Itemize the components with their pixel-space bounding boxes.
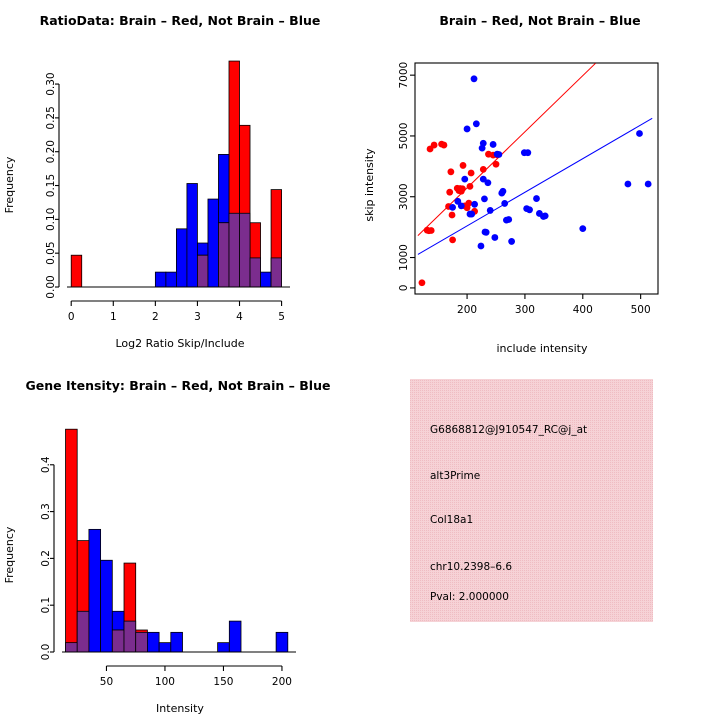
- scatter-title: Brain – Red, Not Brain – Blue: [439, 13, 640, 28]
- y-axis-tick-label: 0.05: [45, 241, 57, 264]
- plot-frame: [415, 63, 658, 294]
- gene-info-pval: Pval: 2.000000: [430, 591, 509, 603]
- scatter-point-not-brain: [471, 75, 478, 82]
- scatter-point-not-brain: [490, 141, 497, 148]
- panel-intensity-scatter: Brain – Red, Not Brain – Blue include in…: [360, 0, 720, 360]
- ratio-histogram-svg: RatioData: Brain – Red, Not Brain – Blue…: [0, 0, 360, 360]
- scatter-point-brain: [441, 142, 448, 149]
- scatter-ylabel: skip intensity: [363, 148, 376, 222]
- histogram-bar-brain: [71, 255, 82, 287]
- scatter-point-brain: [431, 142, 438, 149]
- scatter-point-not-brain: [526, 206, 533, 213]
- gene-info-event-type: alt3Prime: [430, 470, 480, 482]
- scatter-point-not-brain: [461, 176, 468, 183]
- histogram-bar-not-brain: [276, 632, 288, 652]
- histogram-bar-not-brain: [89, 529, 101, 652]
- histogram-bar-not-brain: [187, 184, 198, 288]
- x-axis-tick-label: 4: [236, 311, 243, 323]
- histogram-bar-not-brain: [147, 632, 159, 652]
- histogram-bar-not-brain: [166, 272, 177, 287]
- scatter-point-brain: [460, 162, 467, 169]
- scatter-point-not-brain: [449, 204, 456, 211]
- histogram-bar-not-brain: [229, 621, 241, 652]
- regression-line: [418, 118, 652, 254]
- histogram-bar-not-brain: [218, 154, 229, 222]
- scatter-point-brain: [493, 161, 500, 168]
- scatter-point-not-brain: [481, 195, 488, 202]
- scatter-point-brain: [459, 185, 466, 192]
- x-axis-tick-label: 200: [272, 676, 292, 688]
- histogram-bar-overlap: [250, 258, 261, 287]
- panel-ratio-histogram: RatioData: Brain – Red, Not Brain – Blue…: [0, 0, 360, 360]
- y-axis-tick-label: 0.20: [45, 140, 57, 163]
- scatter-point-not-brain: [625, 181, 632, 188]
- histogram-bar-overlap: [271, 258, 282, 287]
- scatter-point-not-brain: [505, 216, 512, 223]
- scatter-point-not-brain: [485, 179, 492, 186]
- y-axis-tick-label: 0.15: [45, 174, 57, 197]
- scatter-points-group: [418, 63, 652, 286]
- y-axis-tick-label: 3000: [398, 183, 410, 210]
- histogram-bar-overlap: [229, 213, 240, 287]
- y-axis-tick-label: 0.10: [45, 208, 57, 231]
- histogram-bar-not-brain: [112, 611, 124, 630]
- gene-info-svg: G6868812@J910547_RC@j_at alt3Prime Col18…: [360, 360, 720, 720]
- gene-histogram-plot-area: 0.00.10.20.30.450100150200: [40, 429, 296, 688]
- scatter-point-brain: [449, 236, 456, 243]
- scatter-point-brain: [446, 189, 453, 196]
- histogram-bar-overlap: [66, 643, 78, 652]
- scatter-point-not-brain: [645, 181, 652, 188]
- scatter-point-not-brain: [579, 225, 586, 232]
- x-axis-tick-label: 2: [152, 311, 159, 323]
- y-axis-tick-label: 1000: [398, 244, 410, 271]
- histogram-bar-overlap: [112, 630, 124, 652]
- scatter-point-not-brain: [464, 126, 471, 133]
- y-axis-tick-label: 0: [398, 285, 410, 292]
- scatter-point-not-brain: [491, 234, 498, 241]
- histogram-bar-not-brain: [197, 243, 208, 255]
- plot-canvas: RatioData: Brain – Red, Not Brain – Blue…: [0, 0, 720, 720]
- y-axis-tick-label: 0.25: [45, 106, 57, 129]
- scatter-svg: Brain – Red, Not Brain – Blue include in…: [360, 0, 720, 360]
- scatter-point-not-brain: [483, 229, 490, 236]
- histogram-bar-not-brain: [155, 272, 166, 287]
- x-axis-tick-label: 50: [100, 676, 113, 688]
- scatter-point-brain: [447, 168, 454, 175]
- x-axis-tick-label: 100: [155, 676, 175, 688]
- x-axis-tick-label: 150: [213, 676, 233, 688]
- scatter-point-not-brain: [480, 140, 487, 147]
- histogram-bar-not-brain: [261, 272, 272, 287]
- scatter-point-brain: [465, 200, 472, 207]
- y-axis-tick-label: 0.2: [40, 550, 52, 567]
- scatter-point-not-brain: [508, 238, 515, 245]
- scatter-point-brain: [468, 170, 475, 177]
- scatter-point-not-brain: [524, 149, 531, 156]
- y-axis-tick-label: 0.3: [40, 503, 52, 520]
- gene-histogram-ylabel: Frequency: [3, 526, 16, 583]
- scatter-point-not-brain: [473, 120, 480, 127]
- histogram-bar-overlap: [240, 213, 251, 287]
- y-axis-tick-label: 0.0: [40, 644, 52, 661]
- scatter-point-not-brain: [495, 151, 502, 158]
- scatter-point-not-brain: [458, 202, 465, 209]
- panel-gene-info: G6868812@J910547_RC@j_at alt3Prime Col18…: [360, 360, 720, 720]
- histogram-bar-brain: [66, 429, 78, 652]
- x-axis-tick-label: 300: [515, 304, 535, 316]
- scatter-plot-area: 01000300050007000200300400500: [398, 62, 658, 316]
- gene-histogram-xlabel: Intensity: [156, 702, 204, 715]
- scatter-point-not-brain: [478, 243, 485, 250]
- scatter-point-not-brain: [636, 130, 643, 137]
- histogram-bar-not-brain: [171, 632, 183, 652]
- scatter-point-not-brain: [471, 201, 478, 208]
- x-axis-tick-label: 200: [457, 304, 477, 316]
- gene-info-probe-id: G6868812@J910547_RC@j_at: [430, 424, 587, 436]
- histogram-bar-not-brain: [101, 560, 113, 652]
- ratio-histogram-plot-area: 0.000.050.100.150.200.250.30012345: [45, 61, 290, 323]
- scatter-point-not-brain: [468, 211, 475, 218]
- scatter-xlabel: include intensity: [496, 342, 588, 355]
- scatter-point-brain: [467, 183, 474, 190]
- scatter-point-brain: [480, 166, 487, 173]
- ratio-histogram-xlabel: Log2 Ratio Skip/Include: [115, 337, 244, 350]
- histogram-bar-not-brain: [218, 643, 230, 652]
- scatter-point-not-brain: [542, 212, 549, 219]
- ratio-histogram-title: RatioData: Brain – Red, Not Brain – Blue: [40, 13, 321, 28]
- y-axis-tick-label: 0.00: [45, 275, 57, 298]
- y-axis-tick-label: 0.4: [40, 456, 52, 473]
- x-axis-tick-label: 400: [573, 304, 593, 316]
- y-axis-tick-label: 7000: [398, 62, 410, 89]
- y-axis-tick-label: 5000: [398, 123, 410, 150]
- ratio-histogram-ylabel: Frequency: [3, 156, 16, 213]
- scatter-point-not-brain: [487, 207, 494, 214]
- panel-gene-histogram: Gene Itensity: Brain – Red, Not Brain – …: [0, 360, 360, 720]
- y-axis-tick-label: 0.1: [40, 597, 52, 614]
- scatter-point-brain: [428, 227, 435, 234]
- x-axis-tick-label: 0: [68, 311, 75, 323]
- x-axis-tick-label: 3: [194, 311, 201, 323]
- gene-info-gene-symbol: Col18a1: [430, 514, 473, 526]
- scatter-point-brain: [449, 212, 456, 219]
- scatter-point-not-brain: [501, 200, 508, 207]
- gene-histogram-title: Gene Itensity: Brain – Red, Not Brain – …: [26, 378, 331, 393]
- x-axis-tick-label: 5: [278, 311, 285, 323]
- histogram-bar-not-brain: [176, 229, 187, 287]
- histogram-bar-overlap: [124, 621, 136, 652]
- histogram-bar-overlap: [77, 611, 89, 652]
- scatter-point-not-brain: [500, 188, 507, 195]
- x-axis-tick-label: 500: [631, 304, 651, 316]
- gene-histogram-svg: Gene Itensity: Brain – Red, Not Brain – …: [0, 360, 360, 720]
- scatter-point-not-brain: [533, 195, 540, 202]
- x-axis-tick-label: 1: [110, 311, 117, 323]
- scatter-point-brain: [419, 279, 426, 286]
- histogram-bar-not-brain: [159, 643, 171, 652]
- y-axis-tick-label: 0.30: [45, 72, 57, 95]
- regression-line: [418, 63, 596, 235]
- gene-info-locus: chr10.2398–6.6: [430, 561, 512, 573]
- histogram-bar-not-brain: [208, 199, 219, 287]
- histogram-bar-overlap: [218, 223, 229, 287]
- histogram-bar-overlap: [197, 255, 208, 287]
- histogram-bar-overlap: [136, 632, 148, 652]
- gene-info-background: [410, 379, 653, 622]
